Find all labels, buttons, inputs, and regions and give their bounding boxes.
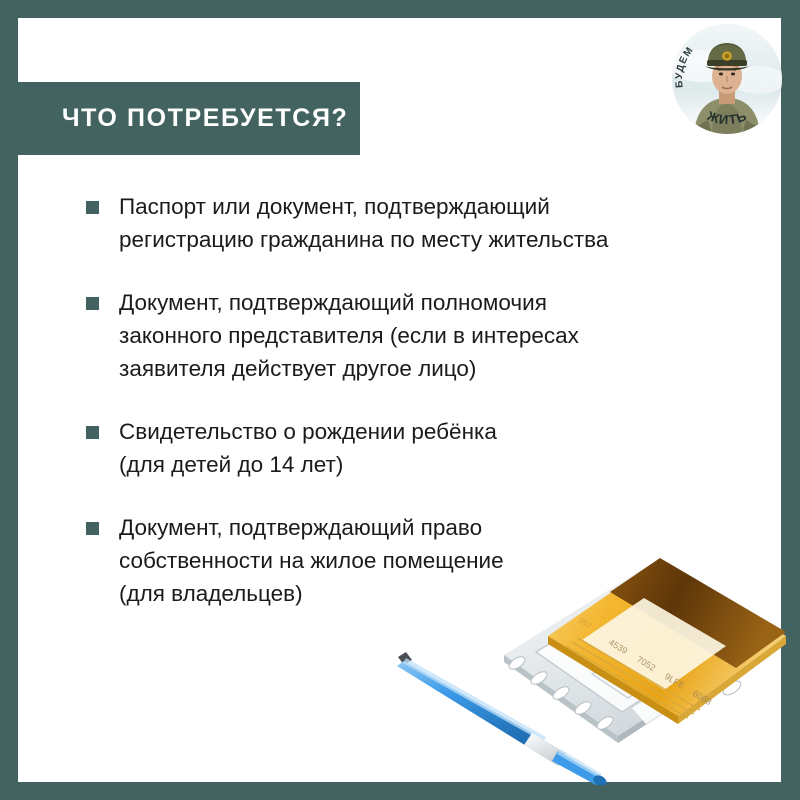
bullet-square-icon [86, 297, 99, 310]
list-item-line: регистрацию гражданина по месту жительст… [119, 223, 608, 256]
list-item: Паспорт или документ, подтверждающий рег… [86, 190, 746, 256]
list-item-line: Свидетельство о рождении ребёнка [119, 415, 497, 448]
illustration-artwork: 4539 7052 9LFE 6088 957 [396, 540, 786, 785]
list-item-text: Документ, подтверждающий полномочия зако… [119, 286, 579, 385]
list-item: Свидетельство о рождении ребёнка (для де… [86, 415, 746, 481]
page-title: ЧТО ПОТРЕБУЕТСЯ? [62, 104, 348, 133]
bullet-square-icon [86, 522, 99, 535]
bullet-square-icon [86, 201, 99, 214]
title-banner: ЧТО ПОТРЕБУЕТСЯ? [0, 82, 360, 155]
list-item-line: Документ, подтверждающий полномочия [119, 286, 579, 319]
list-item-line: (для детей до 14 лет) [119, 448, 497, 481]
badge-artwork: БУДЕМ ЖИТЬ [672, 24, 782, 134]
list-item-line: заявителя действует другое лицо) [119, 352, 579, 385]
budem-zhit-badge: БУДЕМ ЖИТЬ [672, 24, 782, 134]
list-item-text: Паспорт или документ, подтверждающий рег… [119, 190, 608, 256]
list-item-text: Свидетельство о рождении ребёнка (для де… [119, 415, 497, 481]
poster-root: ЧТО ПОТРЕБУЕТСЯ? [0, 0, 800, 800]
list-item: Документ, подтверждающий полномочия зако… [86, 286, 746, 385]
bullet-square-icon [86, 426, 99, 439]
list-item-line: Паспорт или документ, подтверждающий [119, 190, 608, 223]
documents-illustration: 4539 7052 9LFE 6088 957 [396, 540, 786, 785]
list-item-line: законного представителя (если в интереса… [119, 319, 579, 352]
